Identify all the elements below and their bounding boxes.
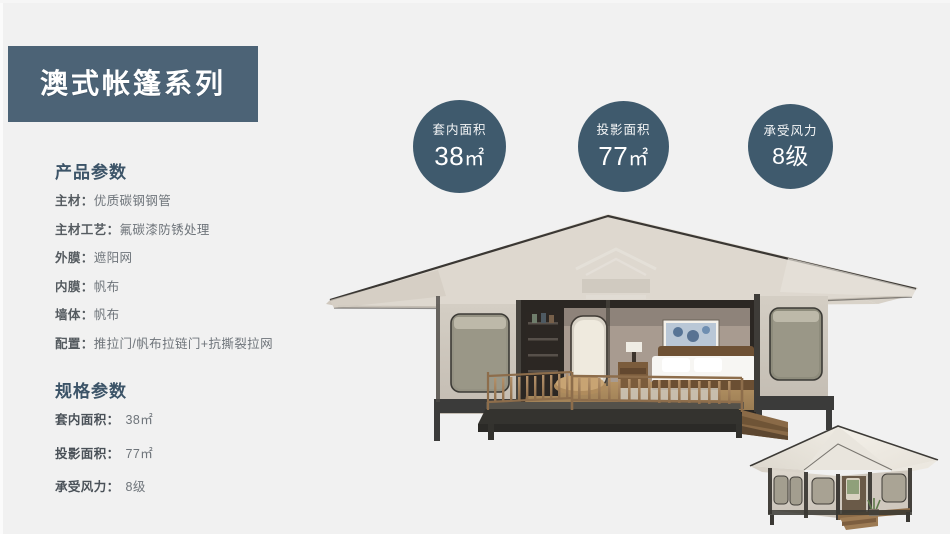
param-value: 优质碳钢钢管 — [94, 194, 171, 208]
param-label: 内膜： — [55, 280, 94, 294]
param-label: 主材： — [55, 194, 94, 208]
spec-label: 承受风力： — [55, 480, 120, 494]
product-parameters-block: 产品参数 主材：优质碳钢钢管 主材工艺：氟碳漆防锈处理 外膜：遮阳网 内膜：帆布… — [55, 164, 355, 350]
param-row: 配置：推拉门/帆布拉链门+抗撕裂拉网 — [55, 338, 355, 351]
spec-label: 投影面积： — [55, 447, 120, 461]
spec-row: 承受风力：8级 — [55, 481, 355, 494]
stat-value: 77㎡ — [598, 143, 648, 169]
stat-caption: 套内面积 — [432, 124, 486, 137]
stat-badge-projected-area: 投影面积 77㎡ — [578, 101, 669, 192]
parameters-column: 产品参数 主材：优质碳钢钢管 主材工艺：氟碳漆防锈处理 外膜：遮阳网 内膜：帆布… — [55, 164, 355, 515]
param-row: 主材工艺：氟碳漆防锈处理 — [55, 224, 355, 237]
stat-badge-interior-area: 套内面积 38㎡ — [413, 100, 506, 193]
spec-value: 8级 — [126, 480, 146, 494]
spec-row: 投影面积：77㎡ — [55, 448, 355, 461]
stat-number: 77 — [598, 141, 628, 171]
param-label: 主材工艺： — [55, 223, 120, 237]
param-value: 帆布 — [94, 280, 120, 294]
stat-badge-wind-resistance: 承受风力 8级 — [748, 104, 833, 189]
stat-number: 8级 — [772, 143, 809, 169]
spec-label: 套内面积： — [55, 413, 120, 427]
stat-number: 38 — [434, 141, 464, 171]
param-value: 遮阳网 — [94, 251, 133, 265]
stat-value: 38㎡ — [434, 143, 484, 169]
stat-unit: ㎡ — [464, 148, 485, 170]
param-row: 外膜：遮阳网 — [55, 252, 355, 265]
param-row: 内膜：帆布 — [55, 281, 355, 294]
spec-parameters-block: 规格参数 套内面积：38㎡ 投影面积：77㎡ 承受风力：8级 — [55, 383, 355, 494]
param-row: 主材：优质碳钢钢管 — [55, 195, 355, 208]
thumbnail-tent-svg — [742, 414, 950, 534]
param-value: 氟碳漆防锈处理 — [120, 223, 210, 237]
thumbnail-tent-image — [742, 414, 950, 534]
slide-root: 澳式帐篷系列 产品参数 主材：优质碳钢钢管 主材工艺：氟碳漆防锈处理 外膜：遮阳… — [0, 0, 950, 534]
param-row: 墙体：帆布 — [55, 309, 355, 322]
stat-unit: ㎡ — [628, 148, 649, 170]
spec-value: 38㎡ — [126, 413, 154, 427]
param-value: 推拉门/帆布拉链门+抗撕裂拉网 — [94, 337, 273, 351]
param-label: 配置： — [55, 337, 94, 351]
param-label: 外膜： — [55, 251, 94, 265]
product-parameters-heading: 产品参数 — [55, 164, 355, 181]
page-title: 澳式帐篷系列 — [40, 70, 226, 98]
spec-row: 套内面积：38㎡ — [55, 414, 355, 427]
title-banner: 澳式帐篷系列 — [8, 46, 258, 122]
spec-parameters-heading: 规格参数 — [55, 383, 355, 400]
stat-caption: 投影面积 — [596, 124, 650, 137]
stat-value: 8级 — [772, 145, 809, 168]
spec-value: 77㎡ — [126, 447, 154, 461]
stat-caption: 承受风力 — [763, 125, 817, 138]
param-label: 墙体： — [55, 308, 94, 322]
param-value: 帆布 — [94, 308, 120, 322]
